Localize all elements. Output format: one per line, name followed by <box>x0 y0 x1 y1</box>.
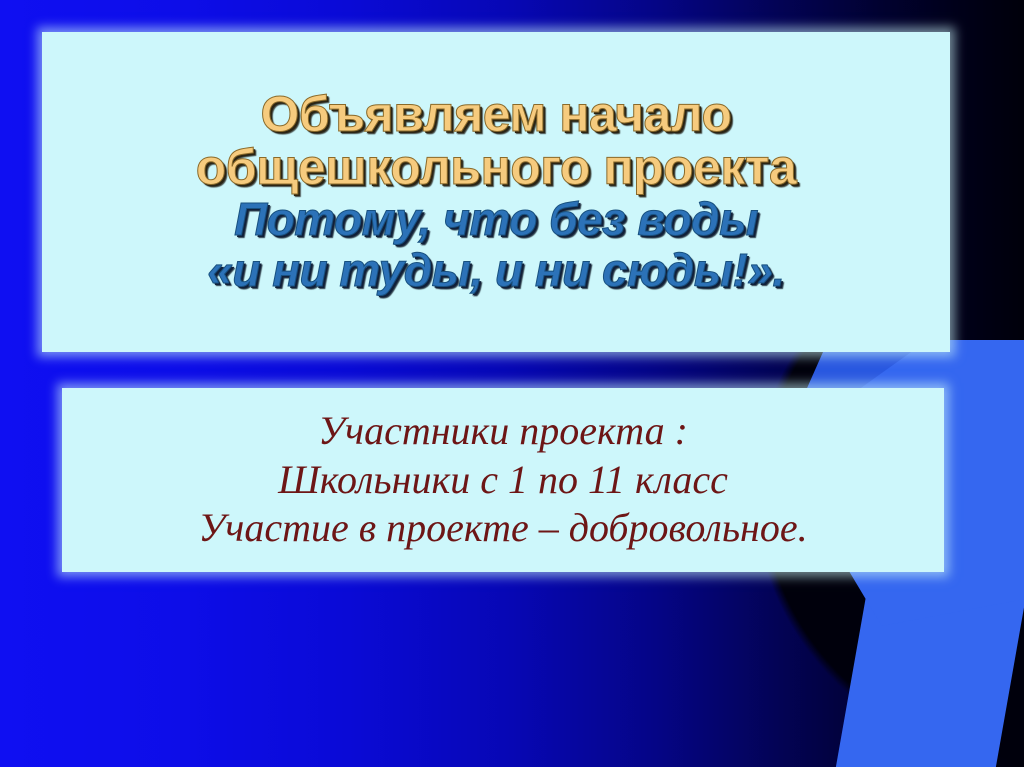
title-line-2: общешкольного проекта <box>196 141 797 194</box>
participants-line-2: Школьники с 1 по 11 класс <box>278 456 728 505</box>
presentation-slide: Объявляем начало общешкольного проекта П… <box>0 0 1024 767</box>
title-panel: Объявляем начало общешкольного проекта П… <box>42 32 950 352</box>
participants-panel: Участники проекта : Школьники с 1 по 11 … <box>62 388 944 572</box>
participants-line-1: Участники проекта : <box>318 407 688 456</box>
participants-line-3: Участие в проекте – добровольное. <box>198 504 807 553</box>
title-subline-2: «и ни туды, и ни сюды!». <box>207 245 784 296</box>
title-line-1: Объявляем начало <box>260 88 731 141</box>
title-subline-1: Потому, что без воды <box>234 194 758 245</box>
